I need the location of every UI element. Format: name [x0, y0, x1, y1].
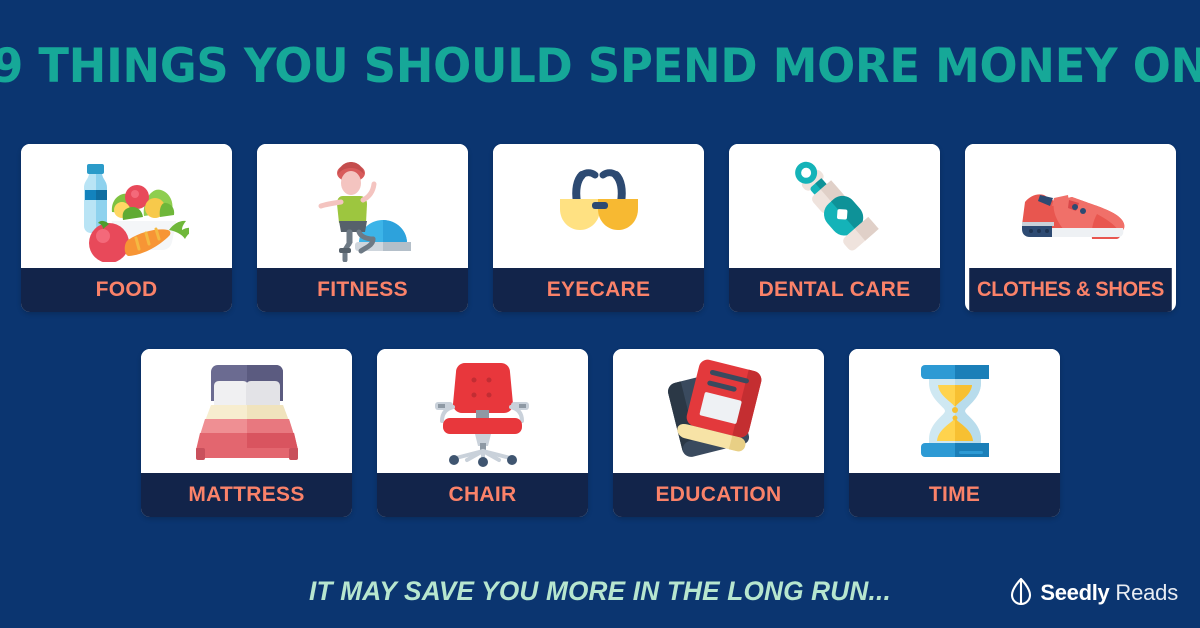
office-chair-icon	[421, 355, 545, 467]
seedly-leaf-icon	[1009, 577, 1033, 610]
brand-primary: Seedly	[1040, 580, 1109, 605]
card-dental-care[interactable]: DENTAL CARE	[729, 144, 940, 312]
card-art	[257, 144, 468, 268]
card-art	[377, 349, 588, 473]
card-label: TIME	[849, 473, 1060, 517]
card-art	[849, 349, 1060, 473]
page-title: 9 THINGS YOU SHOULD SPEND MORE MONEY ON	[0, 40, 1200, 94]
card-row-1: FOOD	[21, 144, 1176, 312]
brand-text: Seedly Reads	[1040, 582, 1178, 604]
groceries-icon	[65, 150, 189, 262]
card-label: DENTAL CARE	[729, 268, 940, 312]
electric-toothbrush-icon	[773, 150, 897, 262]
books-icon	[657, 355, 781, 467]
tagline: IT MAY SAVE YOU MORE IN THE LONG RUN...	[18, 576, 1182, 607]
card-chair[interactable]: CHAIR	[377, 349, 588, 517]
card-label: EDUCATION	[613, 473, 824, 517]
card-art-wrap-eyecare[interactable]: EYECARE	[493, 144, 704, 312]
card-label: CLOTHES & SHOES	[969, 268, 1172, 312]
bed-icon	[185, 355, 309, 467]
card-art	[613, 349, 824, 473]
sneaker-icon	[1009, 150, 1133, 262]
card-art	[21, 144, 232, 268]
hourglass-icon	[893, 355, 1017, 467]
card-label: EYECARE	[493, 268, 704, 312]
card-label: MATTRESS	[141, 473, 352, 517]
card-art	[493, 144, 704, 268]
card-fitness[interactable]: FITNESS	[257, 144, 468, 312]
card-education[interactable]: EDUCATION	[613, 349, 824, 517]
card-art	[965, 144, 1176, 268]
infographic-poster: 9 THINGS YOU SHOULD SPEND MORE MONEY ON	[0, 0, 1200, 628]
card-clothes-and-shoes[interactable]: CLOTHES & SHOES	[965, 144, 1176, 312]
card-label: FOOD	[21, 268, 232, 312]
card-label: FITNESS	[257, 268, 468, 312]
brand-secondary: Reads	[1109, 580, 1178, 605]
brand-logo: Seedly Reads	[1009, 578, 1178, 608]
card-art	[141, 349, 352, 473]
card-time[interactable]: TIME	[849, 349, 1060, 517]
card-row-2: MATTRESS	[141, 349, 1060, 517]
card-art	[729, 144, 940, 268]
card-mattress[interactable]: MATTRESS	[141, 349, 352, 517]
card-food[interactable]: FOOD	[21, 144, 232, 312]
card-label: CHAIR	[377, 473, 588, 517]
balance-exercise-icon	[301, 150, 425, 262]
sunglasses-icon	[537, 150, 661, 262]
